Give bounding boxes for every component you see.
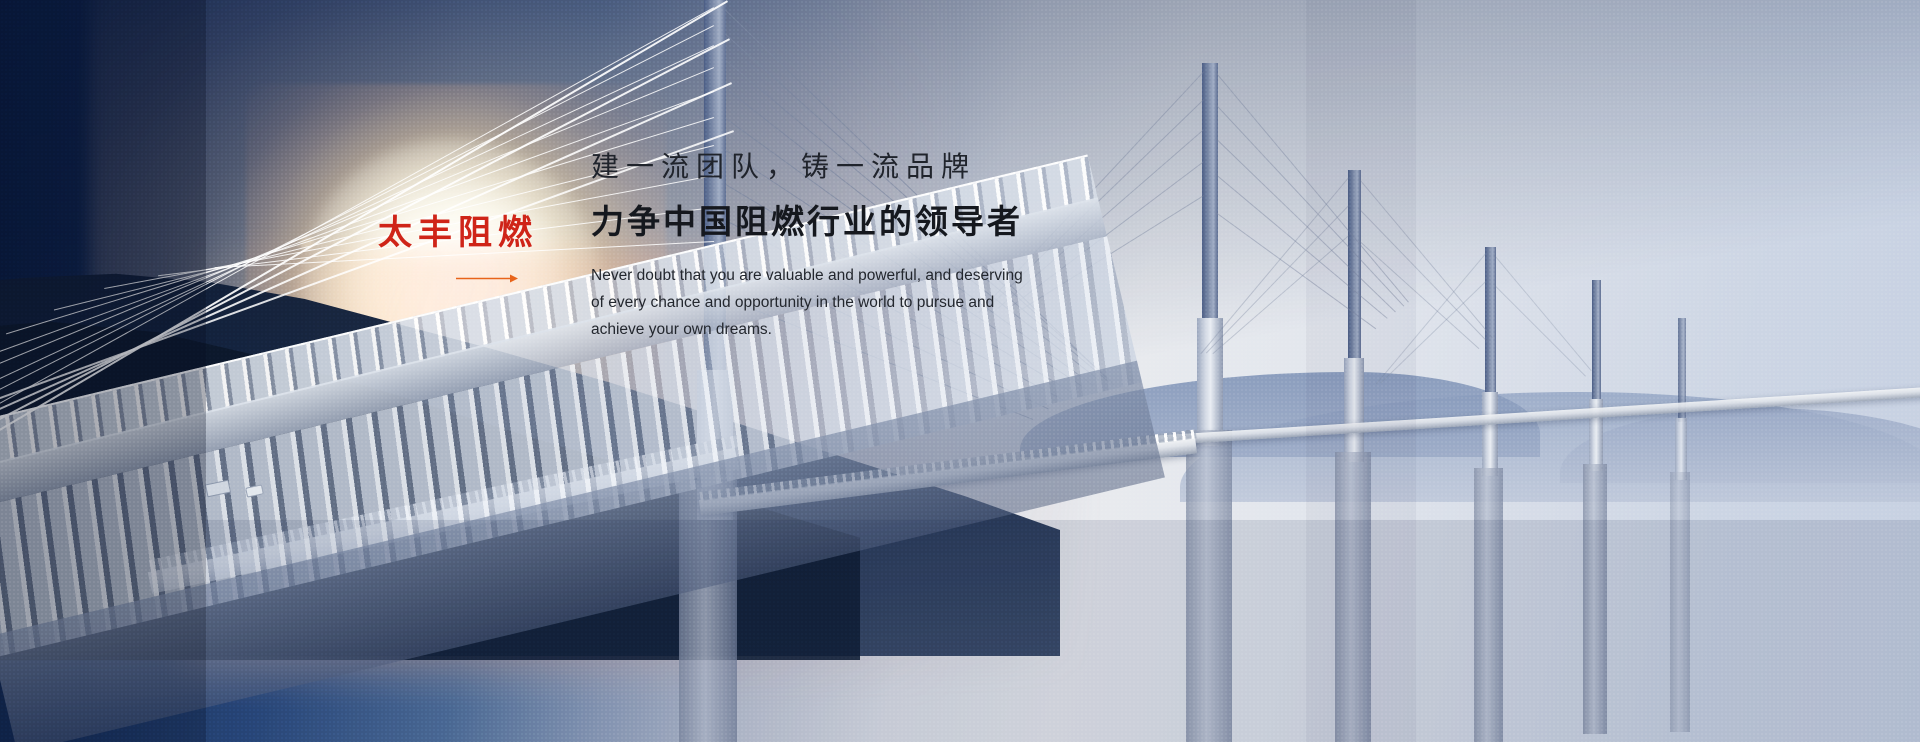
paragraph-line: of every chance and opportunity in the w…: [591, 290, 1043, 317]
paragraph-line: achieve your own dreams.: [591, 317, 1043, 344]
banner-subheadline: 建一流团队，铸一流品牌: [591, 150, 1061, 184]
brand-logo-text: 太丰阻燃: [378, 216, 558, 250]
banner-content: 太丰阻燃 建一流团队，铸一流品牌 力争中国阻燃行业的领导者 Never doub…: [0, 0, 1920, 742]
right-arrow-icon: [456, 272, 518, 284]
banner-copy: 建一流团队，铸一流品牌 力争中国阻燃行业的领导者 Never doubt tha…: [591, 150, 1061, 343]
hero-banner: 太丰阻燃 建一流团队，铸一流品牌 力争中国阻燃行业的领导者 Never doub…: [0, 0, 1920, 742]
paragraph-line: Never doubt that you are valuable and po…: [591, 263, 1043, 290]
brand-logo[interactable]: 太丰阻燃: [378, 216, 558, 284]
banner-headline: 力争中国阻燃行业的领导者: [591, 202, 1061, 242]
banner-paragraph: Never doubt that you are valuable and po…: [591, 263, 1043, 343]
